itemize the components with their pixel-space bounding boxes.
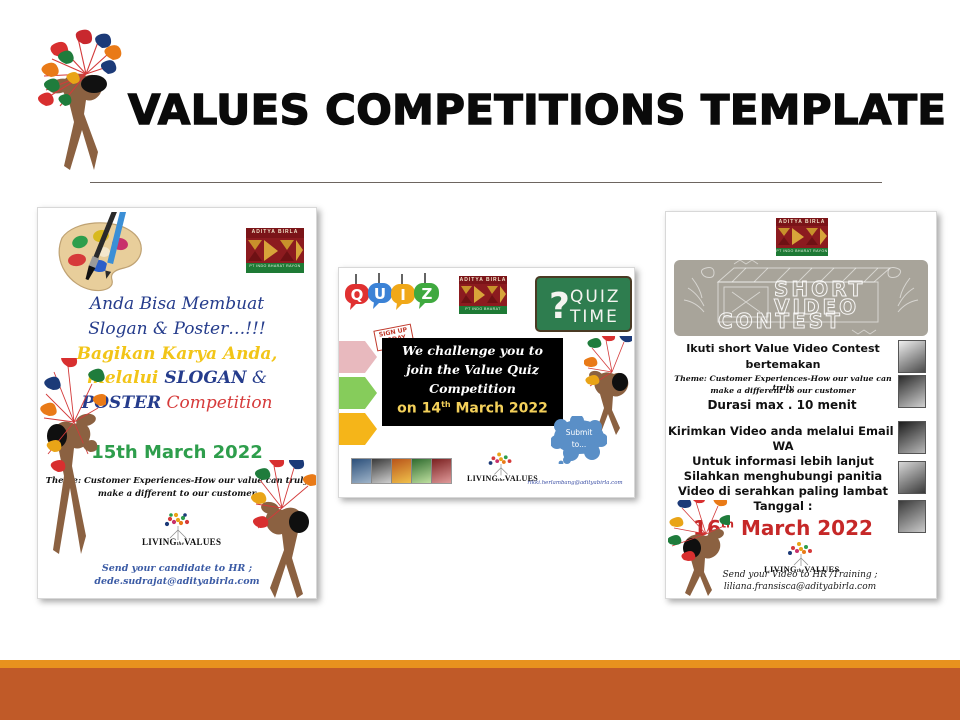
video-body-line-4: WA — [668, 439, 898, 453]
aditya-birla-wordmark: ADITYA BIRLA — [246, 228, 304, 238]
living-values-tree-icon-video — [781, 540, 821, 566]
svg-text:Q: Q — [351, 286, 364, 304]
video-duration: Durasi max . 10 menit — [672, 398, 892, 412]
quiz-time-chalkboard: ? QUIZ TIME — [535, 276, 632, 332]
chalkboard-quiz-word: QUIZ — [570, 287, 620, 307]
quiz-message-line-1: We challenge you to — [382, 343, 563, 358]
quiz-date-prefix: on 14 — [397, 401, 441, 417]
living-values-badge: LIVINGtheVALUES — [142, 510, 214, 547]
film-poster-strip — [351, 458, 452, 484]
submit-bubble-line-1: Submit — [566, 428, 593, 437]
submit-thought-bubble: Submit to... — [551, 416, 607, 464]
video-thumb-4 — [898, 461, 926, 494]
lv-living-quiz: LIVING — [467, 474, 498, 483]
living-values-word-values: VALUES — [184, 537, 221, 547]
living-values-tree-icon-quiz — [482, 450, 520, 476]
living-values-word-living: LIVING — [142, 537, 177, 547]
quiz-date-rest: March 2022 — [451, 401, 548, 417]
footer-band — [0, 668, 960, 720]
page-title: VALUES COMPETITIONS TEMPLATE — [128, 80, 842, 140]
tree-person-figure-video — [668, 500, 730, 596]
video-body-line-1: Ikuti short Value Video Contest — [674, 342, 892, 355]
living-values-logo-icon — [24, 24, 134, 174]
quiz-message-line-3: Competition — [382, 381, 563, 396]
video-contact-line-1[interactable]: Send your Video to HR /Training ; — [700, 570, 900, 580]
chalkboard-time-word: TIME — [569, 307, 619, 327]
hexagon-decoration — [339, 339, 377, 447]
aditya-birla-logo-video: ADITYA BIRLA PT INDO BHARAT RAYON — [776, 218, 828, 256]
aditya-birla-logo-quiz: ADITYA BIRLA PT INDO BHARAT RAYON — [459, 276, 507, 314]
poster-headline-2: Slogan & Poster…!!! — [38, 319, 316, 339]
video-body-line-2: bertemakan — [674, 358, 892, 371]
film-thumb-4 — [412, 459, 432, 483]
aditya-birla-wordmark-video: ADITYA BIRLA — [776, 218, 828, 226]
svg-text:I: I — [400, 286, 406, 304]
card-quiz-competition[interactable]: QU IZ ADITYA BIRLA PT IND — [338, 267, 635, 498]
video-body-line-3: Kirimkan Video anda melalui Email atau — [668, 424, 898, 438]
video-date-rest: March 2022 — [734, 516, 873, 540]
aditya-birla-logo: ADITYA BIRLA PT INDO BHARAT RAYON — [246, 228, 304, 273]
living-values-badge-quiz: LIVINGtheVALUES — [467, 450, 535, 483]
film-thumb-2 — [372, 459, 392, 483]
short-video-contest-banner: SHORT VIDEO CONTEST — [674, 260, 928, 336]
submit-bubble-line-2: to... — [572, 440, 587, 449]
video-thumb-5 — [898, 500, 926, 533]
quiz-message-line-2: join the Value Quiz — [382, 362, 563, 377]
video-thumb-2 — [898, 375, 926, 408]
aditya-birla-subtitle: PT INDO BHARAT RAYON — [246, 263, 304, 273]
tree-person-figure-right — [250, 460, 316, 599]
card-poster-competition[interactable]: ADITYA BIRLA PT INDO BHARAT RAYON Anda B — [37, 207, 317, 599]
film-thumb-5 — [432, 459, 451, 483]
aditya-birla-emblem-video — [776, 226, 828, 247]
aditya-birla-emblem — [246, 238, 304, 263]
tree-person-figure-left — [40, 358, 106, 558]
living-values-wordmark: LIVINGtheVALUES — [142, 537, 214, 547]
card-short-video-contest[interactable]: ADITYA BIRLA PT INDO BHARAT RAYON — [665, 211, 937, 599]
svg-text:U: U — [374, 285, 386, 303]
svg-text:Z: Z — [422, 285, 433, 303]
aditya-birla-subtitle-quiz: PT INDO BHARAT RAYON — [459, 306, 507, 314]
video-body-line-5: Untuk informasi lebih lanjut — [668, 454, 898, 468]
aditya-birla-emblem-quiz — [459, 284, 507, 305]
aditya-birla-wordmark-quiz: ADITYA BIRLA — [459, 276, 507, 284]
title-divider — [90, 182, 882, 183]
banner-word-contest: CONTEST — [718, 309, 843, 333]
lv-the-quiz: the — [498, 477, 505, 482]
video-body-line-6: Silahkan menghubungi panitia — [668, 469, 898, 483]
poster-headline-1: Anda Bisa Membuat — [38, 294, 316, 314]
video-thumb-3 — [898, 421, 926, 454]
footer-accent-stripe — [0, 660, 960, 668]
quiz-bubbles-icon: QU IZ — [343, 272, 441, 314]
living-values-word-the: the — [177, 542, 184, 547]
living-values-tree-icon — [158, 510, 198, 540]
film-thumb-1 — [352, 459, 372, 483]
quiz-date-suffix: th — [441, 400, 451, 409]
poster-headline-4-amp: & — [247, 368, 268, 388]
chalkboard-question-mark: ? — [549, 286, 570, 327]
living-values-badge-video: LIVINGtheVALUES — [764, 540, 838, 574]
quiz-message-box: We challenge you to join the Value Quiz … — [382, 338, 563, 426]
video-thumb-1 — [898, 340, 926, 373]
video-theme-line-2: make a different to our customer — [670, 386, 896, 395]
quiz-message-line-4: on 14th March 2022 — [382, 400, 563, 417]
paint-palette-icon — [44, 212, 159, 298]
quiz-contact-email[interactable]: rikki.herlambang@adityabirla.com — [519, 480, 631, 486]
video-body-line-7: Video di serahkan paling lambat — [668, 484, 898, 498]
aditya-birla-subtitle-video: PT INDO BHARAT RAYON — [776, 248, 828, 256]
video-contact-email[interactable]: liliana.fransisca@adityabirla.com — [700, 582, 900, 592]
poster-headline-5-competition: Competition — [161, 393, 272, 413]
film-thumb-3 — [392, 459, 412, 483]
slide-canvas: VALUES COMPETITIONS TEMPLATE — [0, 0, 960, 720]
poster-headline-4-slogan: SLOGAN — [164, 368, 246, 388]
slide-header: VALUES COMPETITIONS TEMPLATE — [0, 0, 960, 190]
